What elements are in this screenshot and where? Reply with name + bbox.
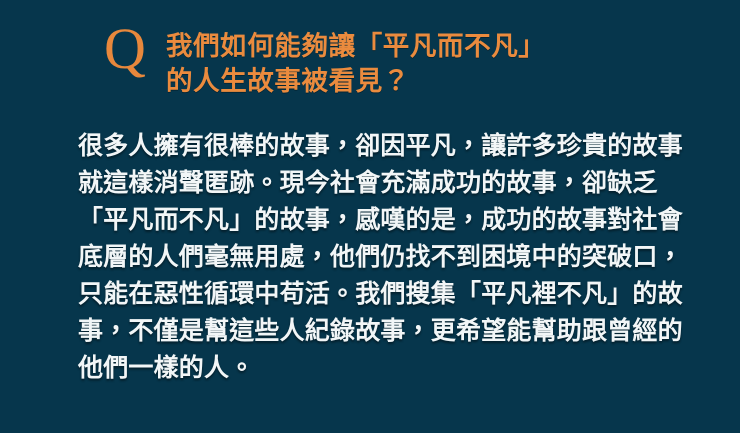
question-block: Q 我們如何能夠讓「平凡而不凡」 的人生故事被看見？ bbox=[104, 24, 704, 99]
question-heading: 我們如何能夠讓「平凡而不凡」 的人生故事被看見？ bbox=[166, 24, 704, 99]
question-letter-glyph-icon: Q bbox=[104, 20, 166, 78]
answer-block: 很多人擁有很棒的故事，卻因平凡，讓許多珍貴的故事就這樣消聲匿跡。現今社會充滿成功… bbox=[78, 128, 696, 387]
answer-paragraph: 很多人擁有很棒的故事，卻因平凡，讓許多珍貴的故事就這樣消聲匿跡。現今社會充滿成功… bbox=[78, 128, 696, 387]
qa-slide: Q 我們如何能夠讓「平凡而不凡」 的人生故事被看見？ 很多人擁有很棒的故事，卻因… bbox=[0, 0, 740, 433]
